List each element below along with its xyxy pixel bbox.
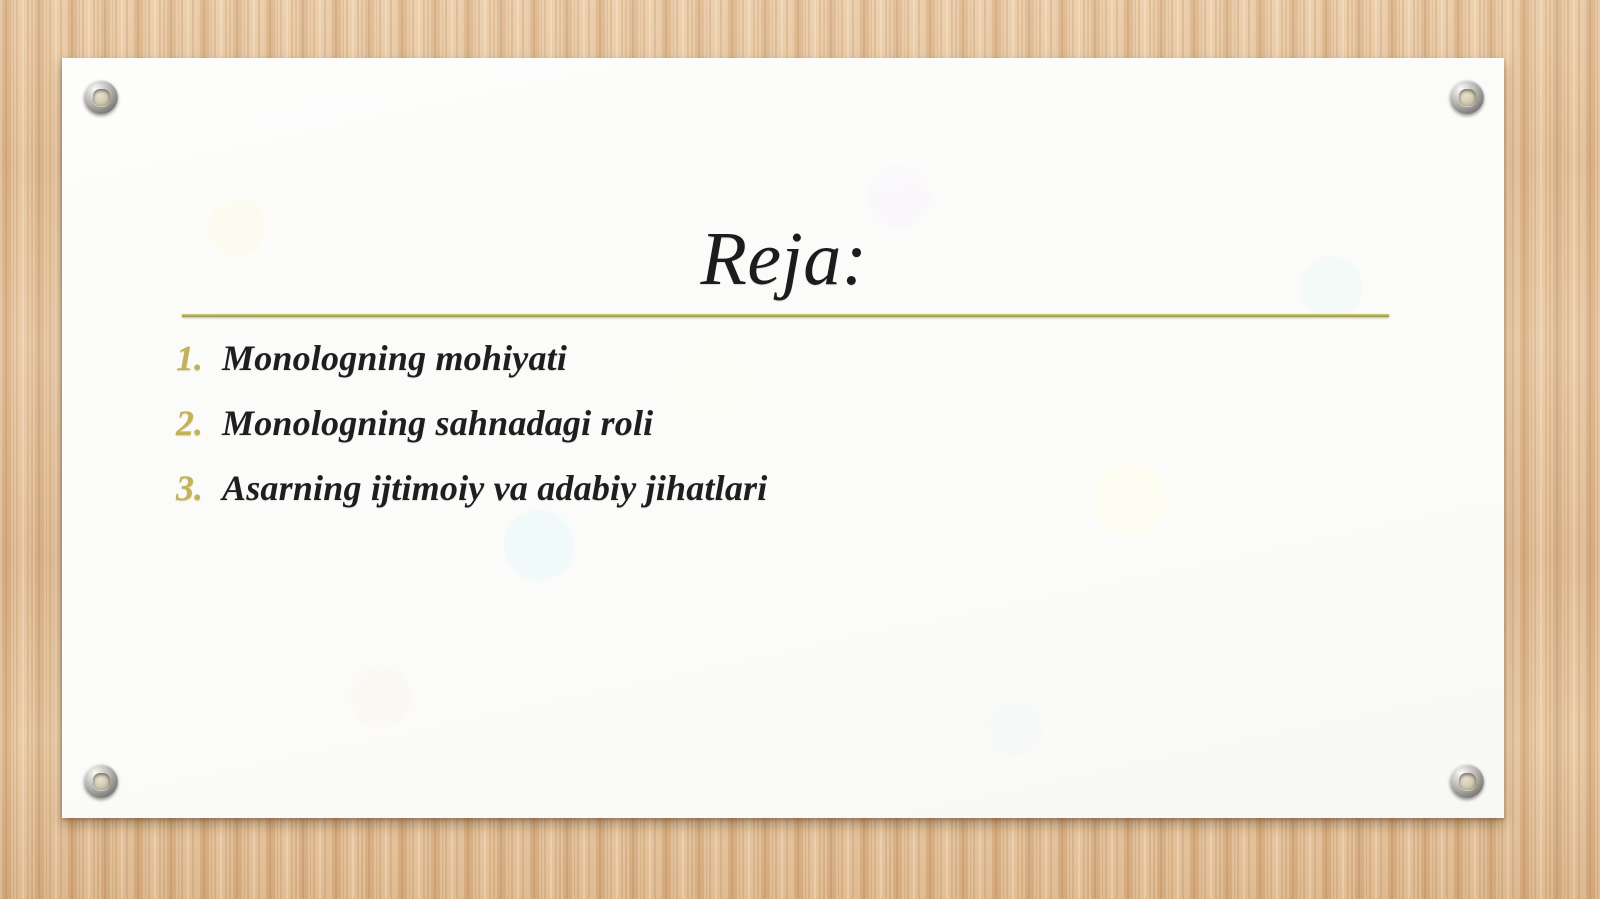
list-item: 1. Monologning mohiyati <box>176 337 1444 402</box>
list-item-number: 3. <box>176 467 222 509</box>
list-item-label: Monologning mohiyati <box>222 337 567 379</box>
agenda-list: 1. Monologning mohiyati 2. Monologning s… <box>176 337 1444 532</box>
slide-panel: Reja: 1. Monologning mohiyati 2. Monolog… <box>62 58 1504 818</box>
panel-content: Reja: 1. Monologning mohiyati 2. Monolog… <box>64 60 1504 818</box>
presentation-slide: Reja: 1. Monologning mohiyati 2. Monolog… <box>0 0 1600 899</box>
list-item-label: Asarning ijtimoiy va adabiy jihatlari <box>222 467 767 509</box>
list-item-number: 1. <box>176 337 222 379</box>
screw-icon-top-left <box>84 80 118 114</box>
list-item: 3. Asarning ijtimoiy va adabiy jihatlari <box>176 467 1444 532</box>
list-item-label: Monologning sahnadagi roli <box>222 402 653 444</box>
slide-title: Reja: <box>64 221 1504 297</box>
screw-icon-bottom-left <box>84 764 118 798</box>
screw-icon-bottom-right <box>1450 764 1484 798</box>
screw-icon-top-right <box>1450 80 1484 114</box>
list-item-number: 2. <box>176 402 222 444</box>
title-divider <box>182 314 1389 317</box>
list-item: 2. Monologning sahnadagi roli <box>176 402 1444 467</box>
